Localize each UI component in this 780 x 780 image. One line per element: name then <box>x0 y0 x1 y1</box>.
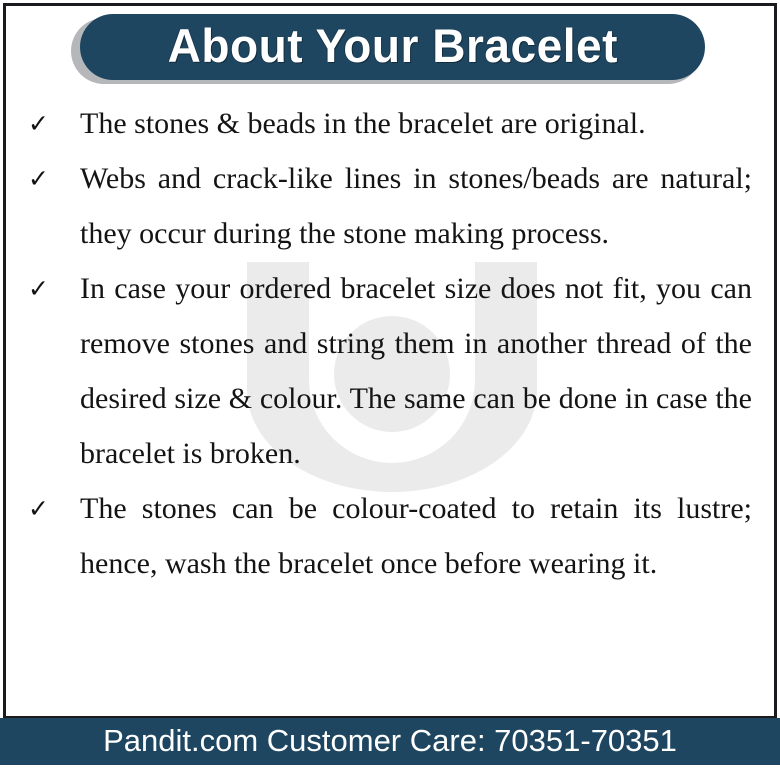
check-icon: ✓ <box>28 261 58 316</box>
about-your-bracelet-card: About Your Bracelet ✓ The stones & beads… <box>0 0 780 780</box>
header-pill: About Your Bracelet <box>80 14 705 80</box>
check-icon: ✓ <box>28 96 58 151</box>
list-item: ✓ Webs and crack-like lines in stones/be… <box>0 151 780 261</box>
check-icon: ✓ <box>28 481 58 536</box>
list-item-text: In case your ordered bracelet size does … <box>80 261 752 481</box>
bullet-list: ✓ The stones & beads in the bracelet are… <box>0 96 780 591</box>
page-title: About Your Bracelet <box>167 22 617 72</box>
list-item: ✓ The stones can be colour-coated to ret… <box>0 481 780 591</box>
customer-care-text: Pandit.com Customer Care: 70351-70351 <box>103 725 677 758</box>
list-item: ✓ In case your ordered bracelet size doe… <box>0 261 780 481</box>
list-item-text: The stones & beads in the bracelet are o… <box>80 96 752 151</box>
header: About Your Bracelet <box>0 14 780 86</box>
list-item: ✓ The stones & beads in the bracelet are… <box>0 96 780 151</box>
footer-bar: Pandit.com Customer Care: 70351-70351 <box>0 718 780 765</box>
check-icon: ✓ <box>28 151 58 206</box>
list-item-text: Webs and crack-like lines in stones/bead… <box>80 151 752 261</box>
list-item-text: The stones can be colour-coated to retai… <box>80 481 752 591</box>
